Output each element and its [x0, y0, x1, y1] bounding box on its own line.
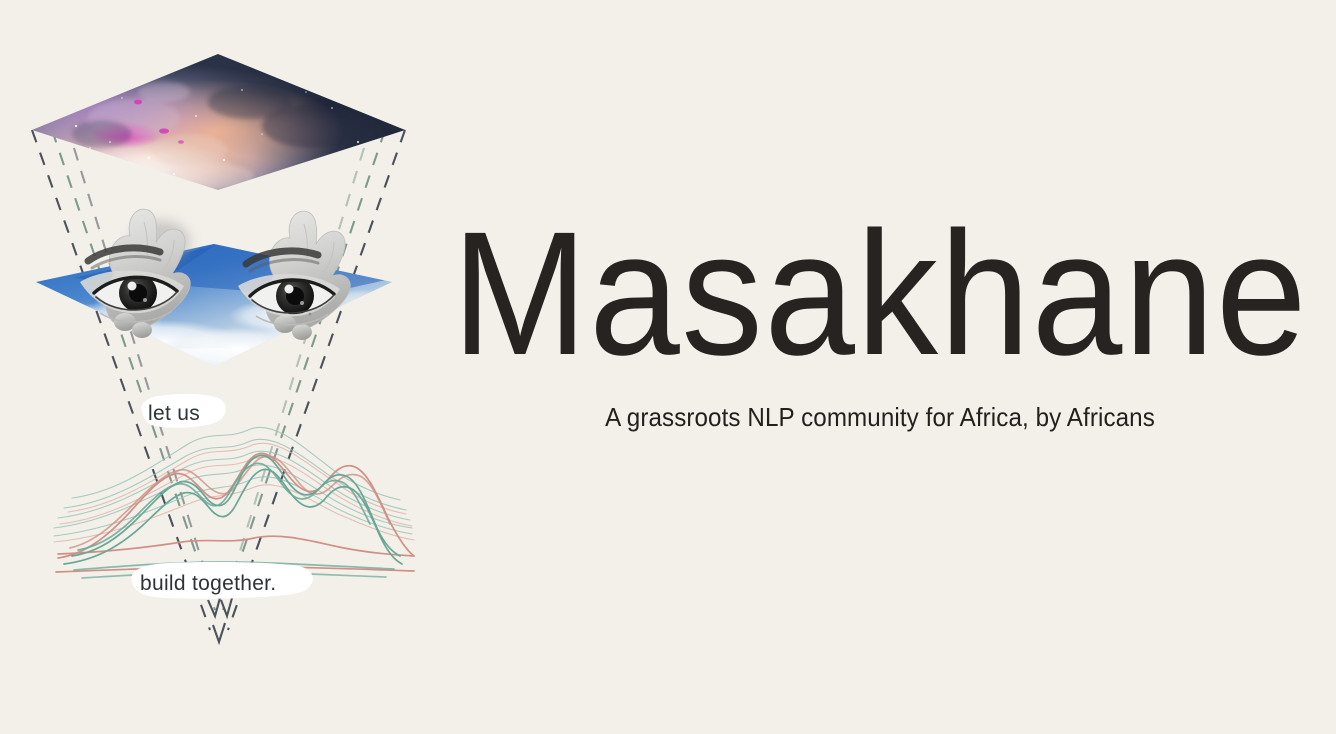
ridgeline-plot — [54, 427, 414, 578]
logo-caption-build-together: build together. — [131, 562, 312, 599]
logo-artwork-svg: Masakhane collage logo: a galaxy plane a… — [14, 30, 434, 650]
page-root: Masakhane collage logo: a galaxy plane a… — [0, 0, 1336, 734]
caption-build-together-text: build together. — [140, 572, 276, 595]
masakhane-logo: Masakhane collage logo: a galaxy plane a… — [14, 30, 434, 650]
page-title: Masakhane — [450, 205, 1310, 381]
brand-wordmark: Masakhane A grassroots NLP community for… — [450, 205, 1310, 433]
sky-plane — [30, 236, 402, 376]
logo-caption-let-us: let us — [141, 394, 226, 428]
page-tagline: A grassroots NLP community for Africa, b… — [480, 368, 1280, 433]
caption-let-us-text: let us — [148, 402, 200, 425]
